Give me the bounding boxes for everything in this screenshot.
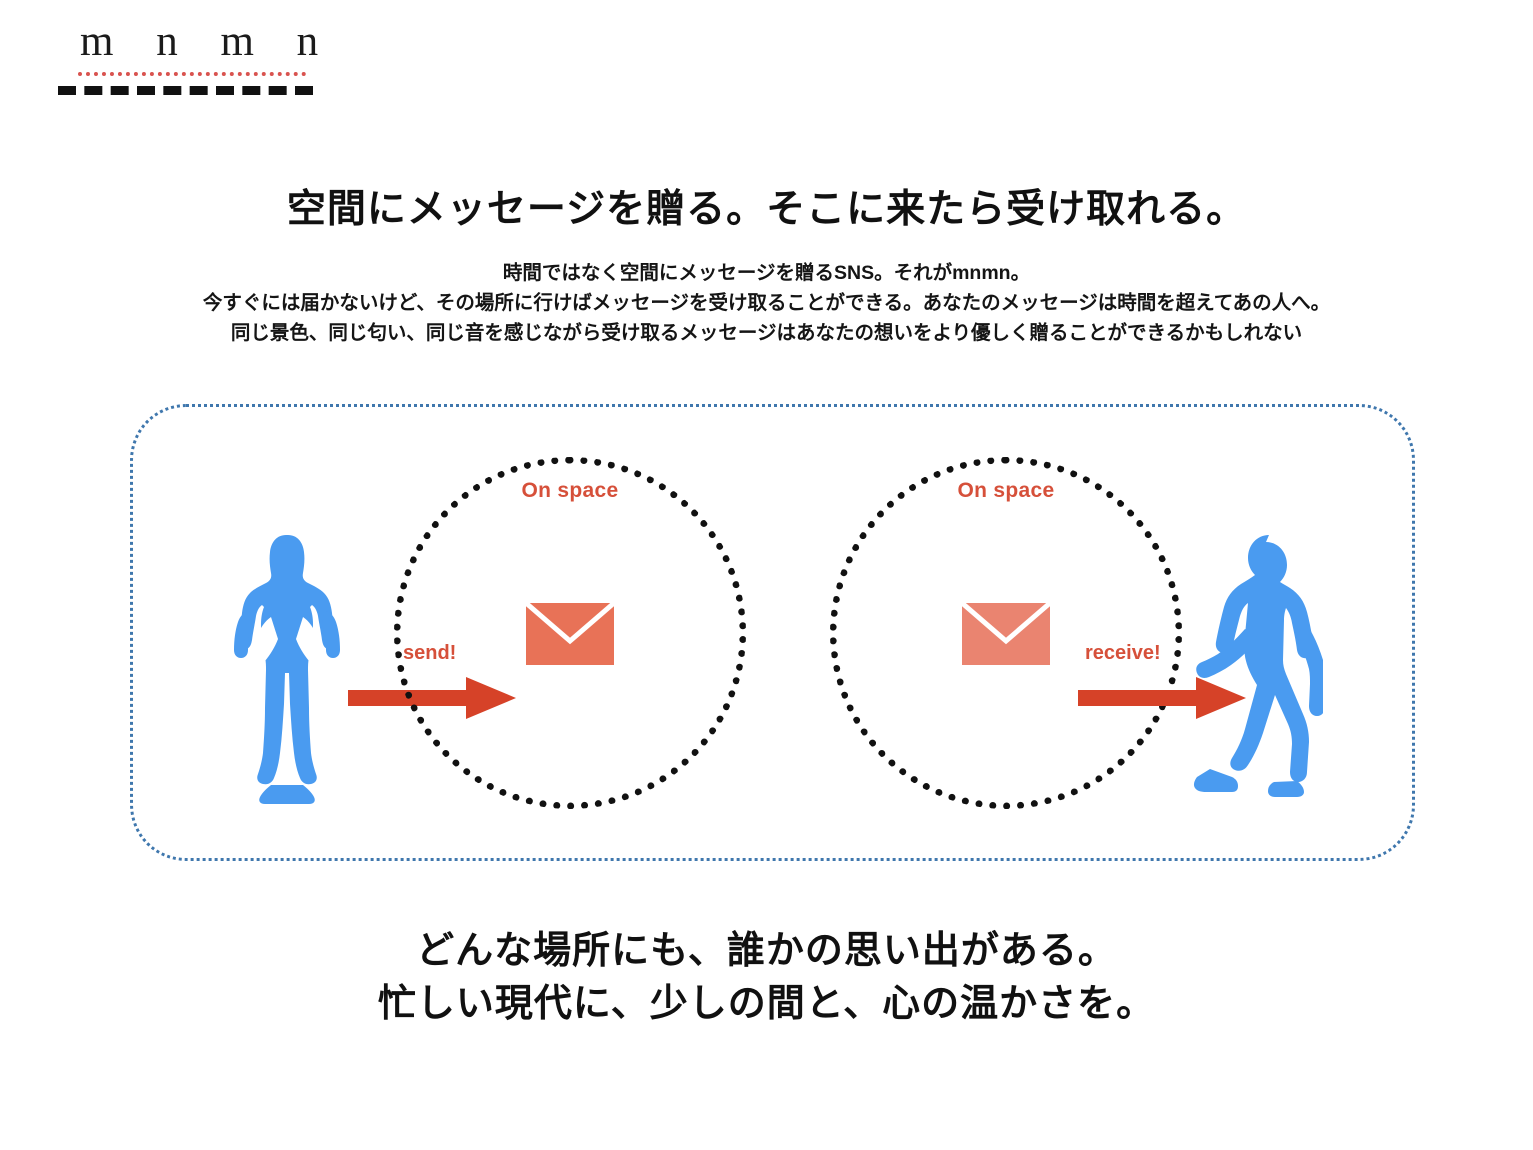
tagline-line-2: 忙しい現代に、少しの間と、心の温かさを。: [0, 978, 1533, 1031]
concept-diagram: send! On space On space receive!: [130, 404, 1415, 861]
tagline-line-1: どんな場所にも、誰かの思い出がある。: [0, 925, 1533, 978]
logo-wordmark: m n m n: [80, 20, 334, 63]
page-headline: 空間にメッセージを贈る。そこに来たら受け取れる。: [0, 178, 1533, 234]
page-tagline: どんな場所にも、誰かの思い出がある。 忙しい現代に、少しの間と、心の温かさを。: [0, 925, 1533, 1031]
description-line-2: 今すぐには届かないけど、その場所に行けばメッセージを受け取ることができる。あなた…: [0, 288, 1533, 318]
description-line-1: 時間ではなく空間にメッセージを贈るSNS。それがmnmn。: [0, 258, 1533, 288]
receiver-person-icon: [1193, 533, 1323, 810]
page-description: 時間ではなく空間にメッセージを贈るSNS。それがmnmn。 今すぐには届かないけ…: [0, 258, 1533, 348]
receive-label: receive!: [1085, 642, 1161, 665]
logo-black-dashed-rule: [58, 86, 313, 95]
site-logo[interactable]: m n m n: [58, 20, 318, 90]
logo-red-dotted-rule: [78, 72, 306, 76]
message-envelope-send-icon: [526, 603, 614, 665]
on-space-label-send: On space: [394, 479, 746, 503]
message-envelope-receive-icon: [962, 603, 1050, 665]
sender-person-icon: [233, 533, 341, 810]
on-space-label-receive: On space: [830, 479, 1182, 503]
description-line-3: 同じ景色、同じ匂い、同じ音を感じながら受け取るメッセージはあなたの想いをより優し…: [0, 318, 1533, 348]
